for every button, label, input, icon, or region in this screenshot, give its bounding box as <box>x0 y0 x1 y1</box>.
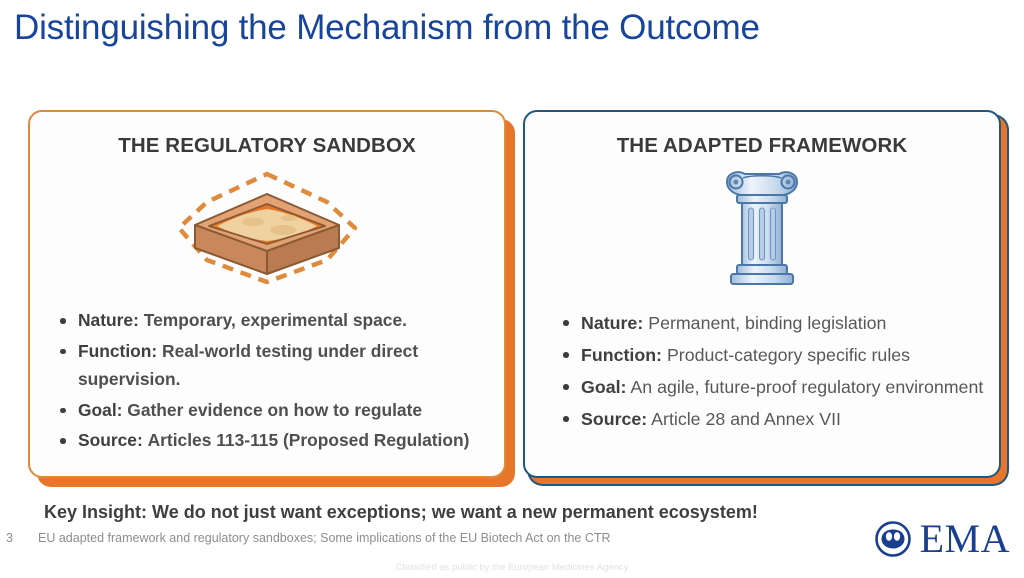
key-insight-label: Key Insight: <box>44 502 147 522</box>
bullet-label: Function: <box>78 341 157 361</box>
bullet-label: Goal: <box>78 400 122 420</box>
list-item: Function: Product-category specific rule… <box>553 340 991 370</box>
footer-note: EU adapted framework and regulatory sand… <box>38 531 611 545</box>
list-item: Goal: An agile, future-proof regulatory … <box>553 372 991 402</box>
card-title-sandbox: THE REGULATORY SANDBOX <box>30 134 504 158</box>
framework-bullet-list: Nature: Permanent, binding legislation F… <box>553 308 991 436</box>
list-item: Source: Articles 113-115 (Proposed Regul… <box>50 426 496 455</box>
bullet-value: An agile, future-proof regulatory enviro… <box>630 377 983 397</box>
bullet-value: Articles 113-115 (Proposed Regulation) <box>148 430 470 450</box>
sandbox-bullet-list: Nature: Temporary, experimental space. F… <box>50 306 496 457</box>
slide-number: 3 <box>6 531 13 545</box>
sandbox-icon <box>167 168 367 288</box>
ema-logo: EMA <box>874 519 1010 559</box>
bullet-value: Product-category specific rules <box>667 345 910 365</box>
key-insight: Key Insight: We do not just want excepti… <box>44 500 758 524</box>
bullet-value: Permanent, binding legislation <box>648 313 886 333</box>
bullet-value: Gather evidence on how to regulate <box>127 400 422 420</box>
list-item: Function: Real-world testing under direc… <box>50 337 496 394</box>
bullet-label: Function: <box>581 345 662 365</box>
bullet-label: Nature: <box>78 310 139 330</box>
bullet-label: Source: <box>581 409 647 429</box>
classification-notice: Classified as public by the European Med… <box>0 562 1024 573</box>
list-item: Nature: Permanent, binding legislation <box>553 308 991 338</box>
bullet-label: Nature: <box>581 313 643 333</box>
sandbox-icon-wrapper <box>30 164 504 292</box>
ema-eye-icon <box>874 520 912 558</box>
bullet-value: Article 28 and Annex VII <box>651 409 841 429</box>
card-regulatory-sandbox: THE REGULATORY SANDBOX Natur <box>28 110 506 478</box>
ionic-column-icon <box>707 166 817 290</box>
bullet-label: Goal: <box>581 377 626 397</box>
list-item: Nature: Temporary, experimental space. <box>50 306 496 335</box>
bullet-label: Source: <box>78 430 143 450</box>
ema-wordmark: EMA <box>920 519 1010 559</box>
list-item: Goal: Gather evidence on how to regulate <box>50 396 496 425</box>
key-insight-text: We do not just want exceptions; we want … <box>152 502 758 522</box>
page-title: Distinguishing the Mechanism from the Ou… <box>14 6 1004 50</box>
card-adapted-framework: THE ADAPTED FRAMEWORK <box>523 110 1001 478</box>
list-item: Source: Article 28 and Annex VII <box>553 404 991 434</box>
bullet-value: Temporary, experimental space. <box>144 310 407 330</box>
column-icon-wrapper <box>525 164 999 292</box>
card-title-framework: THE ADAPTED FRAMEWORK <box>525 134 999 158</box>
